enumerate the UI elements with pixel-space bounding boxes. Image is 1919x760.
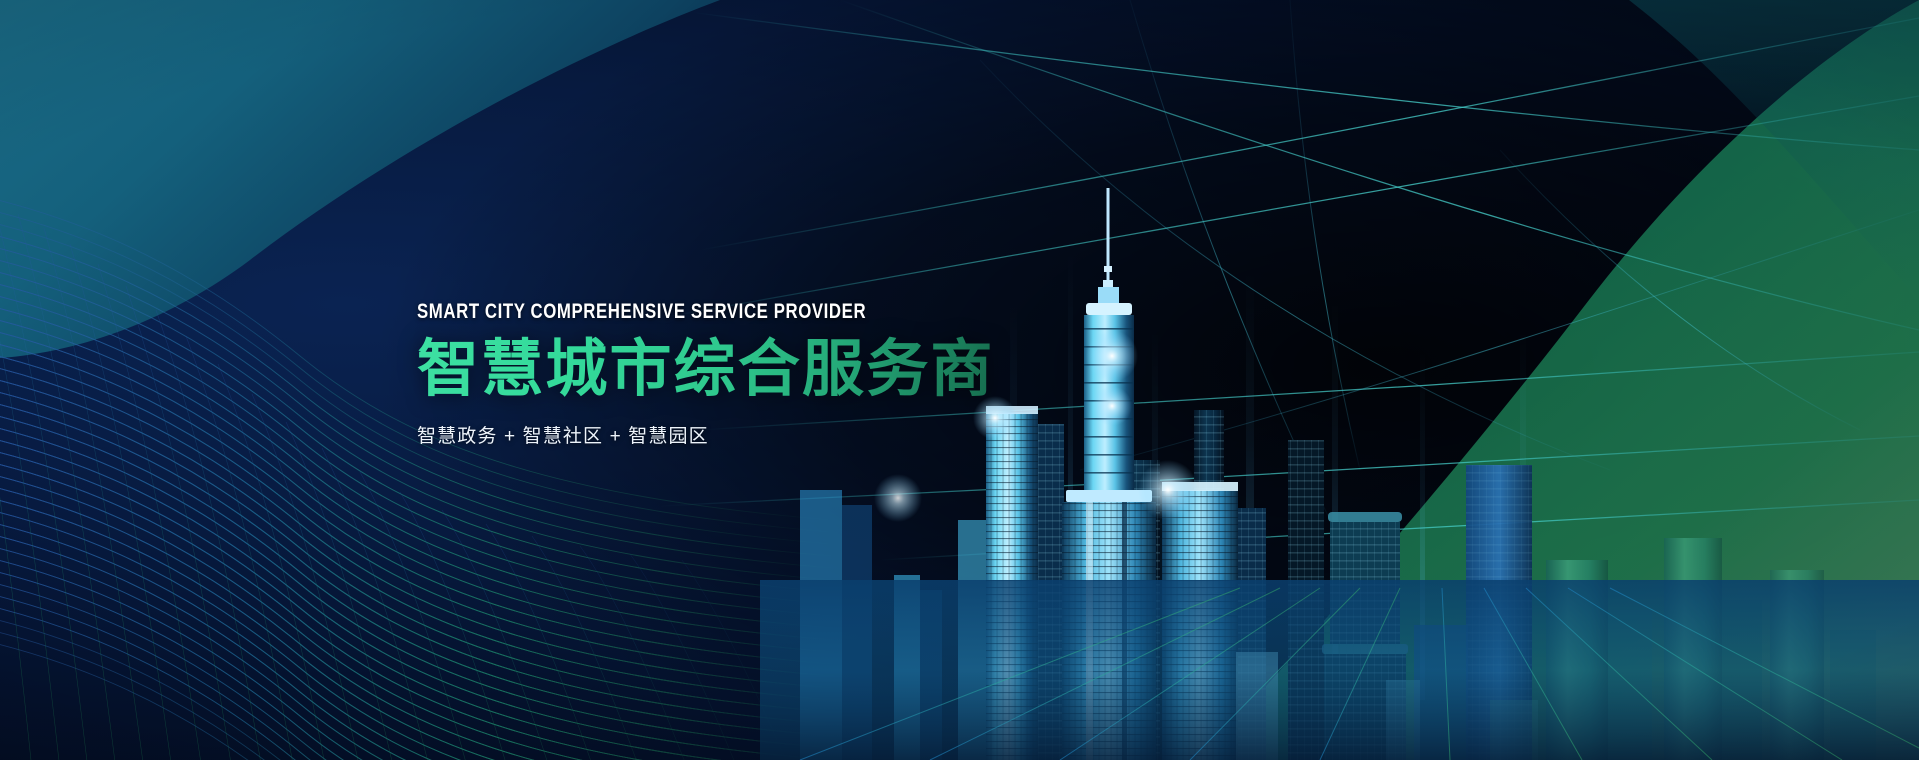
hero-text-block: SMART CITY COMPREHENSIVE SERVICE PROVIDE… [417, 300, 995, 448]
perspective-floor-grid [760, 580, 1919, 760]
hero-eyebrow: SMART CITY COMPREHENSIVE SERVICE PROVIDE… [417, 300, 879, 323]
hero-subline: 智慧政务 + 智慧社区 + 智慧园区 [417, 421, 995, 448]
hero-headline: 智慧城市综合服务商 [417, 335, 995, 404]
smart-city-hero-banner: SMART CITY COMPREHENSIVE SERVICE PROVIDE… [0, 0, 1919, 760]
